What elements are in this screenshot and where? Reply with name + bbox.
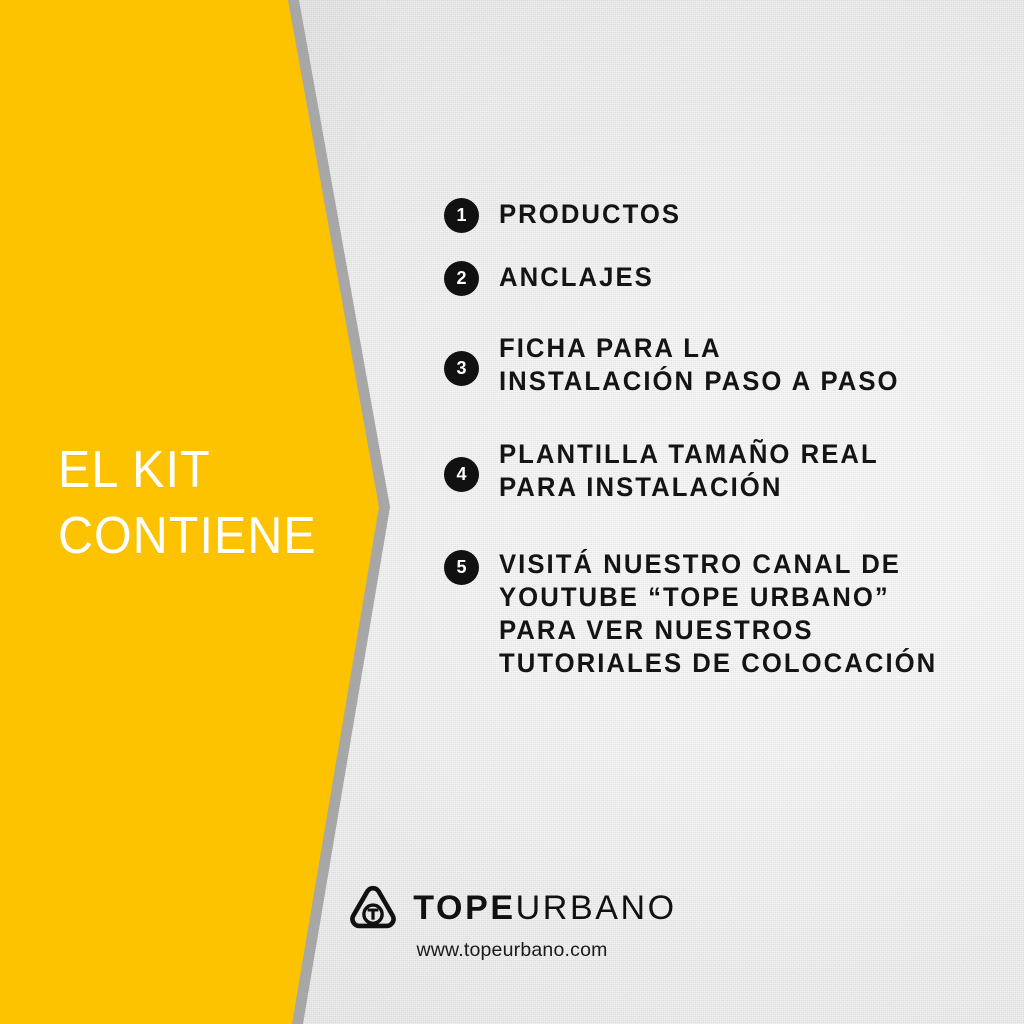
logo-rounded-triangle xyxy=(353,888,394,926)
logo-lockup: TOPEURBANO xyxy=(347,884,676,932)
brand-footer: TOPEURBANO www.topeurbano.com xyxy=(0,884,1024,961)
poster-canvas: EL KIT CONTIENE 1 PRODUCTOS 2 ANCLAJES 3… xyxy=(0,0,1024,1024)
list-item: 1 PRODUCTOS xyxy=(444,196,984,233)
list-item-label: FICHA PARA LA INSTALACIÓN PASO A PASO xyxy=(499,332,900,398)
tope-urbano-triangle-logo-icon xyxy=(347,884,399,932)
list-item-number-badge: 1 xyxy=(444,198,479,233)
list-item-label: PRODUCTOS xyxy=(499,198,681,231)
list-item-number-badge: 5 xyxy=(444,550,479,585)
list-item-label: PLANTILLA TAMAÑO REAL PARA INSTALACIÓN xyxy=(499,438,879,504)
list-item: 4 PLANTILLA TAMAÑO REAL PARA INSTALACIÓN xyxy=(444,438,984,504)
list-item-label: ANCLAJES xyxy=(499,261,654,294)
list-item: 5 VISITÁ NUESTRO CANAL DE YOUTUBE “TOPE … xyxy=(444,548,984,680)
list-item: 3 FICHA PARA LA INSTALACIÓN PASO A PASO xyxy=(444,332,984,398)
brand-name-light: URBANO xyxy=(516,889,677,927)
list-item-number-badge: 2 xyxy=(444,261,479,296)
list-item: 2 ANCLAJES xyxy=(444,259,984,296)
website-url: www.topeurbano.com xyxy=(416,939,607,961)
list-item-label: VISITÁ NUESTRO CANAL DE YOUTUBE “TOPE UR… xyxy=(499,548,937,680)
logo-letter-t xyxy=(368,909,379,920)
list-item-number-badge: 4 xyxy=(444,457,479,492)
list-item-number-badge: 3 xyxy=(444,351,479,386)
brand-wordmark: TOPEURBANO xyxy=(413,891,676,925)
page-title: EL KIT CONTIENE xyxy=(58,437,337,569)
brand-name-bold: TOPE xyxy=(413,889,515,927)
kit-contents-list: 1 PRODUCTOS 2 ANCLAJES 3 FICHA PARA LA I… xyxy=(444,196,984,706)
